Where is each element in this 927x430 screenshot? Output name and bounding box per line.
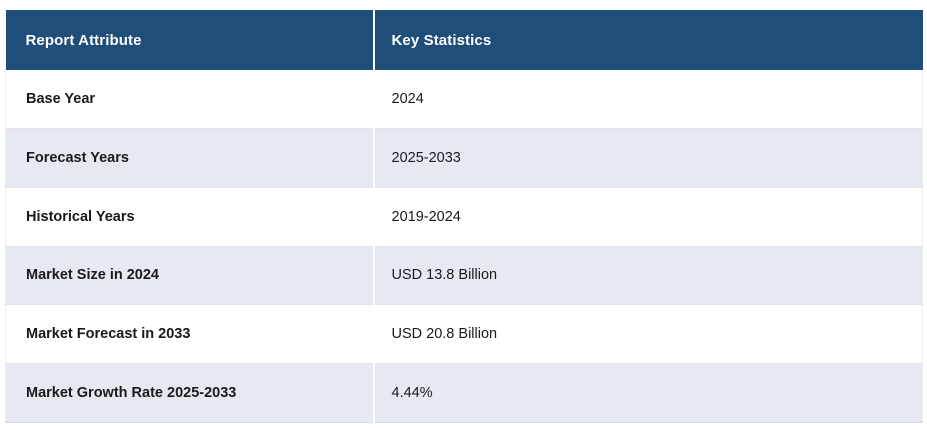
cell-statistic: USD 13.8 Billion [374, 246, 923, 305]
table-row: Forecast Years 2025-2033 [6, 129, 923, 188]
table-body: Base Year 2024 Forecast Years 2025-2033 … [6, 70, 923, 422]
table-row: Market Forecast in 2033 USD 20.8 Billion [6, 305, 923, 364]
column-header-report-attribute: Report Attribute [6, 10, 374, 70]
cell-attribute: Historical Years [6, 187, 374, 246]
cell-attribute: Forecast Years [6, 129, 374, 188]
column-header-key-statistics: Key Statistics [374, 10, 923, 70]
table-header: Report Attribute Key Statistics [6, 10, 923, 70]
cell-statistic: USD 20.8 Billion [374, 305, 923, 364]
cell-attribute: Base Year [6, 70, 374, 129]
table-row: Historical Years 2019-2024 [6, 187, 923, 246]
table-row: Market Size in 2024 USD 13.8 Billion [6, 246, 923, 305]
report-attribute-table: Report Attribute Key Statistics Base Yea… [5, 10, 923, 423]
cell-statistic: 2024 [374, 70, 923, 129]
table-header-row: Report Attribute Key Statistics [6, 10, 923, 70]
table-row: Base Year 2024 [6, 70, 923, 129]
page-root: Report Attribute Key Statistics Base Yea… [0, 0, 927, 430]
table-row: Market Growth Rate 2025-2033 4.44% [6, 363, 923, 422]
cell-statistic: 2019-2024 [374, 187, 923, 246]
cell-statistic: 2025-2033 [374, 129, 923, 188]
cell-attribute: Market Size in 2024 [6, 246, 374, 305]
cell-statistic: 4.44% [374, 363, 923, 422]
cell-attribute: Market Growth Rate 2025-2033 [6, 363, 374, 422]
cell-attribute: Market Forecast in 2033 [6, 305, 374, 364]
